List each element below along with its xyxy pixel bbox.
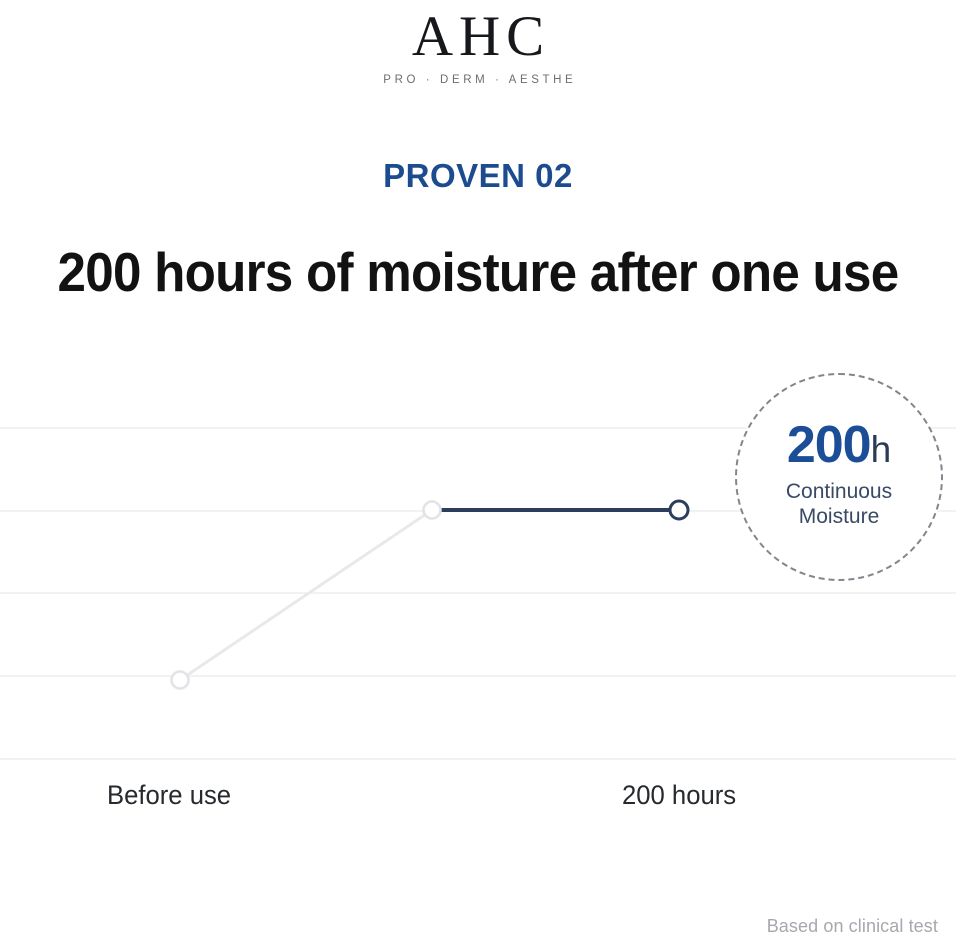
brand-logo: AHC PRO · DERM · AESTHE xyxy=(0,8,956,86)
badge-caption-line-1: Continuous xyxy=(786,480,892,503)
section-eyebrow: PROVEN 02 xyxy=(0,157,956,195)
chart-data-points xyxy=(172,501,689,689)
x-tick-before-use: Before use xyxy=(107,780,231,811)
x-tick-200-hours: 200 hours xyxy=(622,780,736,811)
data-point-before-use xyxy=(172,672,189,689)
brand-name: AHC xyxy=(0,8,956,65)
chart-x-axis: Before use 200 hours xyxy=(0,780,956,840)
badge-unit: h xyxy=(871,429,892,470)
continuous-moisture-badge: 200h Continuous Moisture xyxy=(735,373,943,581)
data-point-200-hours xyxy=(670,501,688,519)
badge-number: 200 xyxy=(787,416,871,474)
brand-tagline: PRO · DERM · AESTHE xyxy=(0,74,956,86)
footnote: Based on clinical test xyxy=(767,916,938,937)
data-point-mid xyxy=(424,502,441,519)
badge-value: 200h xyxy=(787,419,891,471)
badge-caption-line-2: Moisture xyxy=(799,505,880,528)
infographic-page: AHC PRO · DERM · AESTHE PROVEN 02 200 ho… xyxy=(0,0,956,943)
badge-caption: Continuous Moisture xyxy=(786,480,892,530)
page-title: 200 hours of moisture after one use xyxy=(33,240,922,304)
chart-series-line xyxy=(180,510,679,680)
